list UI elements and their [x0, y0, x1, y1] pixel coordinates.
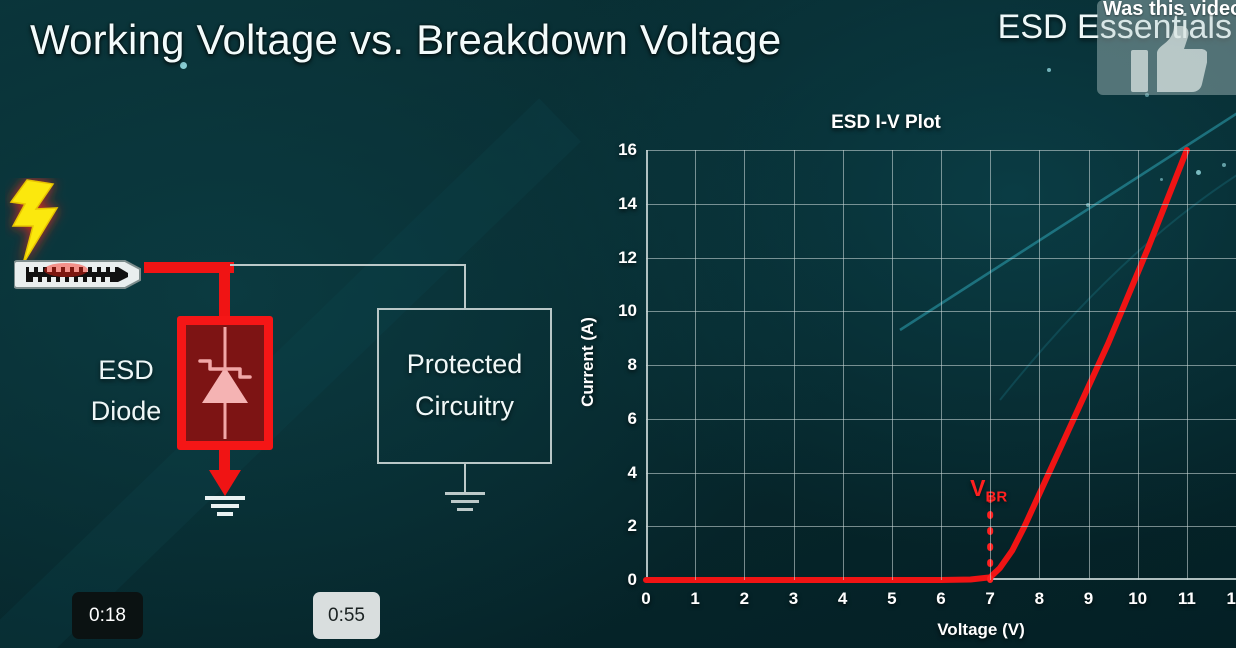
- wire-node-to-diode: [219, 262, 230, 324]
- chart-x-tick-label: 3: [789, 589, 798, 609]
- like-prompt-overlay[interactable]: Was this video: [1097, 0, 1236, 95]
- chart-x-tick-label: 6: [936, 589, 945, 609]
- chart-x-tick-label: 10: [1128, 589, 1147, 609]
- chart-gridline-horizontal: [646, 365, 1236, 366]
- ground-symbol-protected: [440, 492, 490, 520]
- chart-gridline-horizontal: [646, 311, 1236, 312]
- chart-y-tick-label: 14: [618, 194, 637, 214]
- slide-canvas: Working Voltage vs. Breakdown Voltage ES…: [0, 0, 1236, 648]
- page-title: Working Voltage vs. Breakdown Voltage: [30, 16, 781, 64]
- protected-label-line1: Protected: [407, 344, 523, 386]
- chart-gridline-horizontal: [646, 258, 1236, 259]
- ground-symbol-diode: [196, 470, 254, 520]
- chart-y-tick-label: 6: [628, 409, 637, 429]
- wire-protected-drop: [464, 264, 466, 310]
- chart-x-tick-label: 1: [690, 589, 699, 609]
- protected-circuitry-block[interactable]: Protected Circuitry: [377, 308, 552, 464]
- chart-x-tick-label: 8: [1035, 589, 1044, 609]
- vbr-subscript-text: BR: [986, 488, 1008, 505]
- esd-diode-component[interactable]: [177, 316, 273, 450]
- chart-y-axis-label: Current (A): [578, 317, 598, 407]
- hdmi-connector-icon: [14, 253, 146, 296]
- chart-x-tick-label: 7: [985, 589, 994, 609]
- chart-x-tick-label: 2: [740, 589, 749, 609]
- esd-label-line1: ESD: [80, 350, 172, 391]
- chart-gridline-horizontal: [646, 204, 1236, 205]
- chart-y-tick-label: 4: [628, 463, 637, 483]
- chart-gridline-horizontal: [646, 419, 1236, 420]
- chart-y-tick-label: 2: [628, 516, 637, 536]
- like-prompt-text: Was this video: [1103, 0, 1236, 21]
- chart-title: ESD I-V Plot: [586, 112, 1186, 134]
- chart-gridline-horizontal: [646, 150, 1236, 151]
- chart-x-tick-label: 12: [1227, 589, 1236, 609]
- chart-y-tick-label: 0: [628, 570, 637, 590]
- esd-iv-chart: ESD I-V Plot Current (A) Voltage (V) VBR…: [586, 112, 1236, 648]
- wire-protected-ground: [464, 462, 466, 494]
- chart-x-axis-label: Voltage (V): [586, 620, 1236, 640]
- chart-y-tick-label: 12: [618, 248, 637, 268]
- chart-plot-area: VBR 01234567891011120246810121416: [646, 150, 1236, 580]
- breakdown-voltage-label: VBR: [970, 475, 1007, 506]
- protected-label-line2: Circuitry: [415, 386, 514, 428]
- vbr-main-text: V: [970, 475, 985, 501]
- esd-diode-label: ESD Diode: [80, 350, 172, 432]
- timestamp-total[interactable]: 0:55: [313, 592, 380, 639]
- chart-y-tick-label: 16: [618, 140, 637, 160]
- chart-gridline-horizontal: [646, 526, 1236, 527]
- tvs-zener-diode-icon: [186, 325, 264, 441]
- chart-x-tick-label: 11: [1178, 589, 1196, 609]
- esd-label-line2: Diode: [80, 391, 172, 432]
- chart-y-tick-label: 8: [628, 355, 637, 375]
- chart-gridline-horizontal: [646, 473, 1236, 474]
- thumbs-up-icon[interactable]: [1131, 26, 1207, 92]
- chart-x-tick-label: 0: [641, 589, 650, 609]
- chart-x-tick-label: 9: [1084, 589, 1093, 609]
- timestamp-current[interactable]: 0:18: [72, 592, 143, 639]
- wire-node-to-protected: [230, 264, 466, 266]
- chart-x-tick-label: 4: [838, 589, 847, 609]
- chart-y-tick-label: 10: [618, 301, 637, 321]
- background-speck: [1047, 68, 1051, 72]
- chart-x-tick-label: 5: [887, 589, 896, 609]
